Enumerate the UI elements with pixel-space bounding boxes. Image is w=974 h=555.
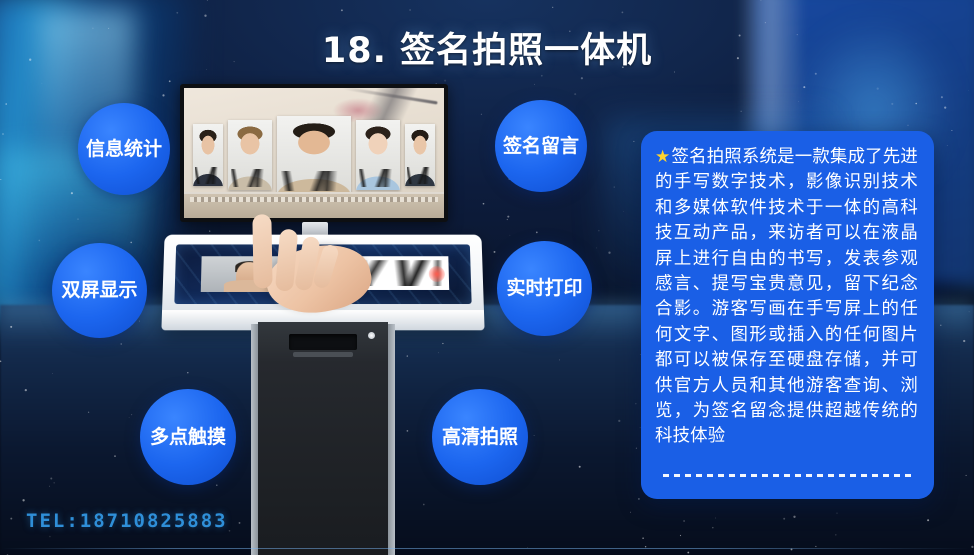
portrait-2 [228,120,272,190]
star-icon: ★ [655,147,670,167]
signature-photo-gallery [184,114,444,196]
bottom-divider [0,548,974,549]
feature-badge-label: 多点触摸 [150,427,226,448]
portrait-signature [195,167,221,183]
feature-badge-multi-touch[interactable]: 多点触摸 [140,389,236,485]
touch-point-indicator [429,266,445,282]
feature-badge-hd-photo[interactable]: 高清拍照 [432,389,528,485]
portrait-5 [405,124,435,186]
description-panel: ★签名拍照系统是一款集成了先进的手写数字技术，影像识别技术和多媒体软件技术于一体… [641,131,934,499]
feature-badge-label: 高清拍照 [442,427,518,448]
slide-canvas: 18. 签名拍照一体机 [0,0,974,555]
portrait-signature [359,169,398,187]
kiosk-device [163,84,483,555]
printer-output-tray [293,352,353,357]
feature-badge-realtime-printing[interactable]: 实时打印 [497,241,592,336]
feature-badge-dual-screen-display[interactable]: 双屏显示 [52,243,147,338]
description-body: 签名拍照系统是一款集成了先进的手写数字技术，影像识别技术和多媒体软件技术于一体的… [655,147,918,446]
portrait-1 [193,124,223,186]
panel-dashed-divider [663,474,912,477]
page-title: 18. 签名拍照一体机 [0,22,974,73]
portrait-3 [277,116,351,194]
portrait-signature [231,169,270,187]
feature-badge-signature-message[interactable]: 签名留言 [495,100,587,192]
feature-badge-label: 实时打印 [506,278,582,299]
feature-badge-label: 信息统计 [86,139,162,160]
printer-slot [289,334,357,350]
feature-badge-label: 签名留言 [503,136,579,157]
feature-badge-label: 双屏显示 [61,280,137,301]
power-led-icon [368,332,375,339]
portrait-4 [356,120,400,190]
feature-badge-info-statistics[interactable]: 信息统计 [78,103,170,195]
description-text: ★签名拍照系统是一款集成了先进的手写数字技术，影像识别技术和多媒体软件技术于一体… [655,145,918,450]
contact-phone: TEL:18710825883 [26,510,228,532]
hand-finger-index [252,214,272,288]
portrait-signature [407,167,433,183]
